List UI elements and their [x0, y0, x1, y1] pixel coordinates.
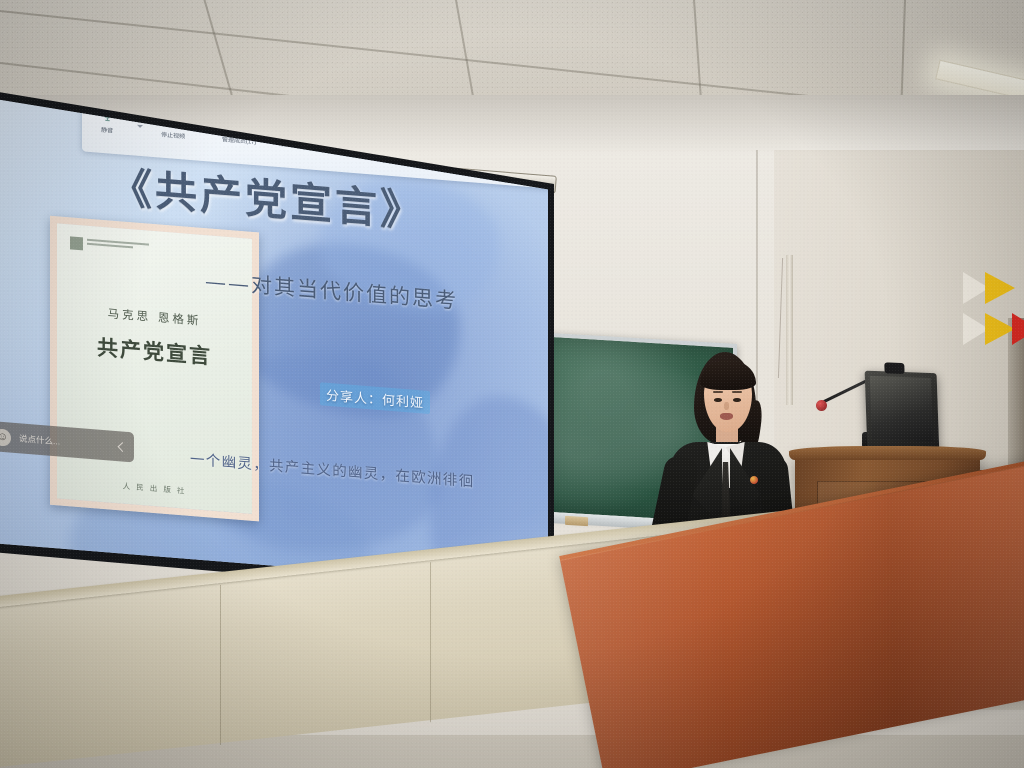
book-cover-image: 马克思 恩格斯 共产党宣言 人 民 出 版 社	[50, 216, 259, 522]
emblem-lines	[87, 238, 149, 250]
tile-seam	[430, 562, 431, 722]
unread-badge	[291, 119, 301, 130]
toolbar-button-share-screen[interactable]: 共享屏幕	[363, 127, 397, 157]
microphone-head-icon	[816, 400, 827, 411]
book-authors: 马克思 恩格斯	[57, 301, 252, 333]
toolbar-label: 共享白板	[434, 151, 458, 161]
person-mouth	[720, 413, 733, 420]
webcam-icon	[884, 362, 904, 374]
classroom-presentation-photo: 静音 停止视频	[0, 0, 1024, 768]
person-eye	[733, 398, 741, 402]
chat-bubble-icon	[278, 120, 295, 136]
arrow-decal-icon	[1012, 313, 1024, 345]
screen-share-active-icon	[290, 76, 297, 77]
toolbar-button-cloud-record[interactable]: 云录制	[542, 141, 548, 171]
presentation-slide: 静音 停止视频	[0, 76, 548, 594]
annotate-icon	[485, 137, 502, 153]
person-nose	[724, 402, 729, 410]
podium-monitor	[865, 371, 940, 456]
chevron-down-icon[interactable]	[410, 146, 416, 149]
publisher-emblem-icon	[70, 236, 149, 255]
toolbar-label: 停止视频	[161, 129, 185, 139]
meeting-title-bar: 腾讯会议	[290, 76, 333, 82]
comment-placeholder[interactable]: 说点什么...	[19, 432, 111, 451]
chevron-left-icon[interactable]	[118, 442, 128, 452]
tile-seam	[220, 585, 221, 745]
arrow-decal-icon	[985, 313, 1015, 345]
person-eye	[714, 398, 722, 402]
toolbar-label: 静音	[101, 125, 113, 134]
toolbar-label: 结束共享	[481, 155, 505, 165]
lectern-top	[789, 446, 986, 460]
projection-screen: 静音 停止视频	[0, 70, 554, 600]
person-eyebrow	[713, 391, 723, 393]
chevron-down-icon[interactable]	[137, 125, 143, 128]
members-icon	[231, 117, 248, 133]
share-screen-icon	[372, 128, 389, 144]
meeting-app-title: 腾讯会议	[301, 76, 333, 82]
toolbar-button-end-share[interactable]: 结束共享	[476, 136, 510, 166]
whiteboard-icon	[438, 133, 455, 149]
toolbar-button-whiteboard[interactable]: 共享白板	[429, 132, 463, 162]
book-title: 共产党宣言	[57, 328, 252, 374]
book-publisher: 人 民 出 版 社	[57, 475, 252, 502]
chevron-down-icon[interactable]	[523, 155, 529, 158]
person-eyebrow	[732, 391, 742, 393]
monitor-screen	[870, 376, 933, 441]
lapel-pin-icon	[750, 476, 758, 484]
screen-surface: 静音 停止视频	[0, 76, 548, 594]
more-dots-icon	[325, 124, 342, 140]
chalk-eraser	[565, 516, 588, 526]
arrow-decal-icon	[985, 272, 1015, 304]
smiley-face-icon[interactable]: ☺	[0, 428, 11, 446]
emblem-mark	[70, 236, 83, 250]
